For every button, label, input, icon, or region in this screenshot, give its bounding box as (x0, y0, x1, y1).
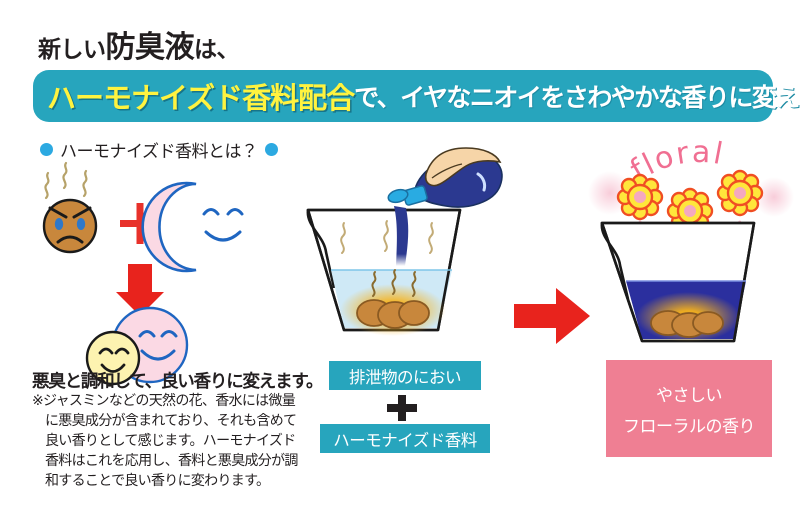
headline-prefix: 新しい (38, 36, 106, 62)
waste-icon (651, 311, 723, 337)
waste-icon (357, 300, 429, 328)
stink-wisp-icon (45, 163, 86, 198)
lead-statement: 悪臭と調和して、良い香りに変えます。 (32, 368, 322, 393)
fragrance-crescent-icon (143, 183, 242, 271)
headline-banner: ハーモナイズド香料配合 で、イヤなニオイをさわやかな香りに変える！ (33, 70, 773, 122)
right-arrow-icon (514, 288, 590, 344)
banner-highlight-text: ハーモナイズド香料配合 (47, 75, 354, 117)
headline-main: 防臭液 (106, 31, 195, 64)
harmonized-question-label: ハーモナイズド香料とは？ (60, 137, 258, 162)
flower-icon (618, 175, 662, 219)
footnote-text: ※ジャスミンなどの天然の花、香水には微量に悪臭成分が含まれており、それも含めて良… (32, 391, 304, 490)
result-label-box: やさしい フローラルの香り (606, 360, 772, 457)
odor-face-icon (44, 200, 96, 252)
result-line-2: フローラルの香り (623, 412, 755, 437)
tag-fragrance: ハーモナイズド香料 (320, 424, 490, 453)
plus-icon (387, 395, 417, 421)
headline-suffix: は、 (194, 36, 239, 62)
blue-dot-icon (265, 143, 278, 156)
tag-odor: 排泄物のにおい (329, 361, 481, 390)
flower-icon (718, 171, 762, 215)
toilet-before-scene (300, 148, 505, 353)
harmonized-question: ハーモナイズド香料とは？ (40, 137, 278, 162)
toilet-after-scene: floral (588, 135, 800, 355)
page-headline: 新しい防臭液は、 (38, 22, 239, 66)
result-line-1: やさしい (656, 381, 722, 406)
harmonize-diagram (28, 160, 308, 360)
blue-dot-icon (40, 143, 53, 156)
banner-rest-text: で、イヤなニオイをさわやかな香りに変える！ (354, 78, 800, 114)
